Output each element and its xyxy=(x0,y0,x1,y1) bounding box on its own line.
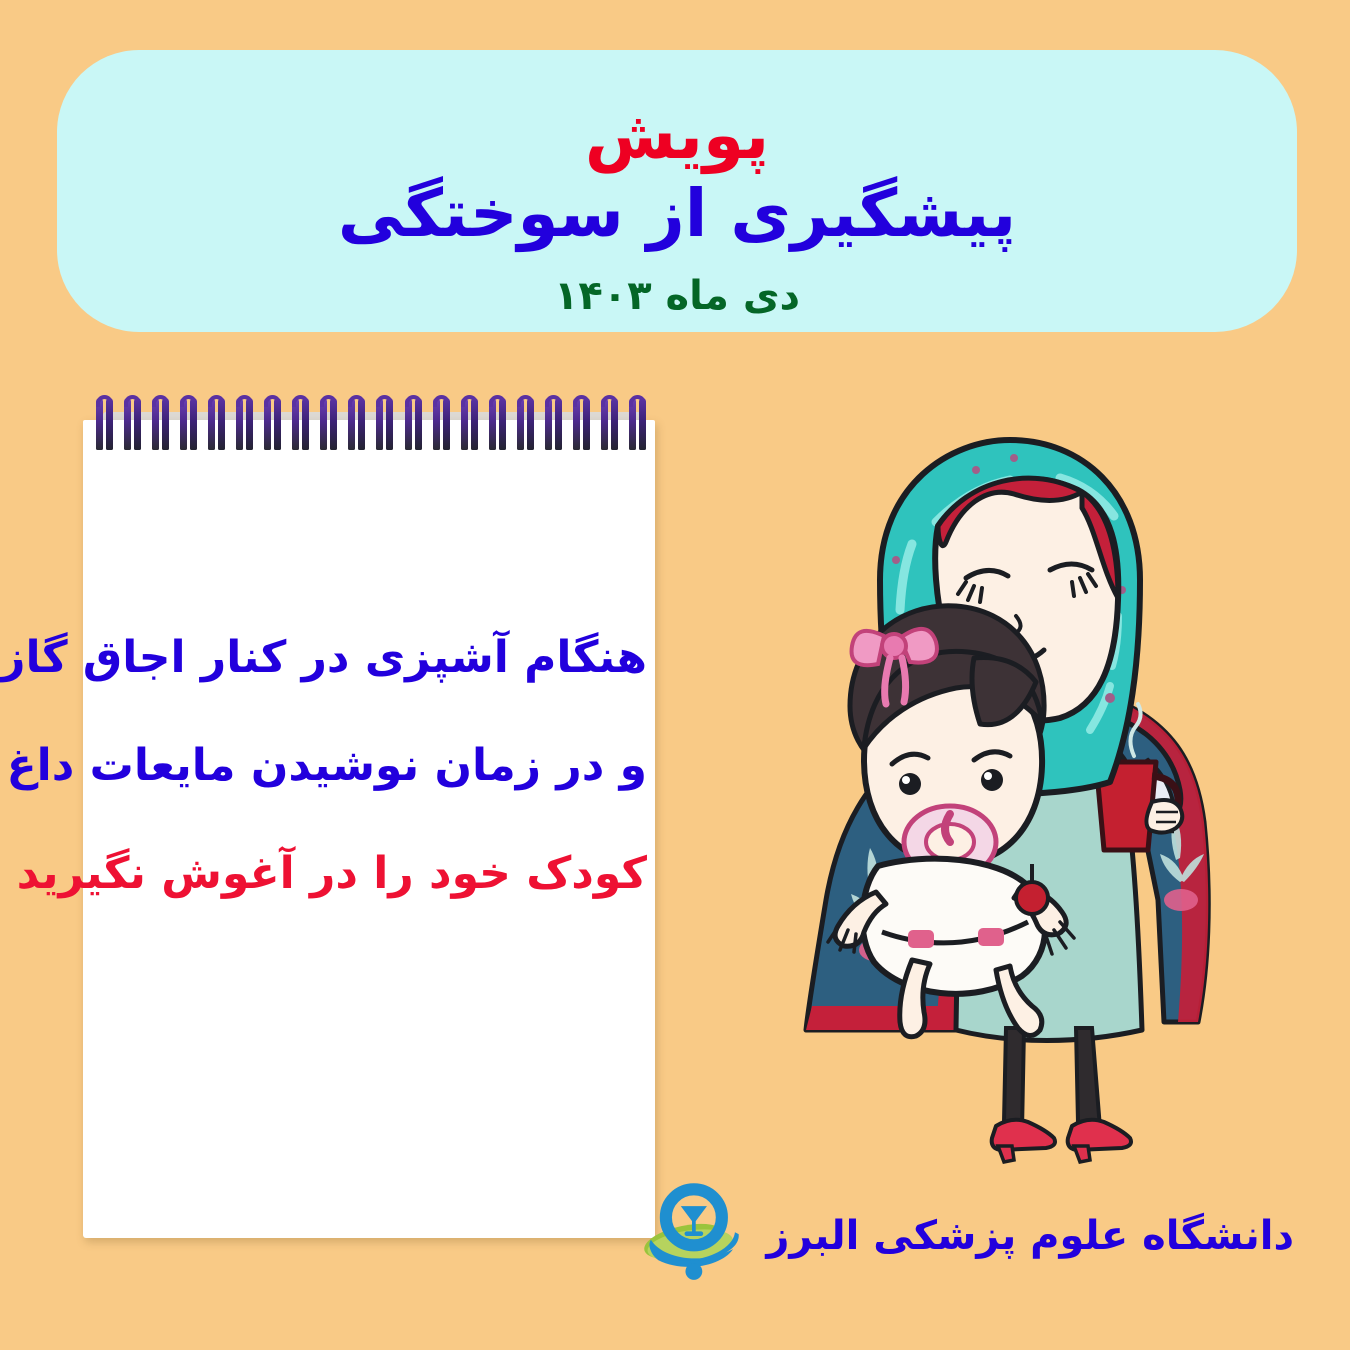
spiral-coil-icon xyxy=(320,398,339,454)
spiral-coil-icon xyxy=(433,398,452,454)
header-panel: پویش پیشگیری از سوختگی دی ماه ۱۴۰۳ xyxy=(57,50,1297,332)
spiral-coil-icon xyxy=(489,398,508,454)
organization-name: دانشگاه علوم پزشکی البرز xyxy=(766,1213,1294,1259)
spiral-coil-icon xyxy=(461,398,480,454)
spiral-coil-icon xyxy=(573,398,592,454)
spiral-coil-icon xyxy=(629,398,648,454)
advice-line-1: هنگام آشپزی در کنار اجاق گاز xyxy=(95,636,647,680)
page-title: پیشگیری از سوختگی xyxy=(57,179,1297,248)
notepad-spiral-binding xyxy=(96,398,648,460)
spiral-coil-icon xyxy=(124,398,143,454)
footer: دانشگاه علوم پزشکی البرز xyxy=(636,1180,1294,1292)
spiral-coil-icon xyxy=(405,398,424,454)
spiral-coil-icon xyxy=(96,398,115,454)
spiral-coil-icon xyxy=(152,398,171,454)
alborz-ums-logo-icon xyxy=(636,1180,748,1292)
spiral-coil-icon xyxy=(236,398,255,454)
advice-text-block: هنگام آشپزی در کنار اجاق گاز و در زمان ن… xyxy=(95,636,647,960)
mother-and-baby-illustration xyxy=(760,430,1230,1190)
advice-line-2: و در زمان نوشیدن مایعات داغ xyxy=(95,744,647,788)
poster-canvas: پویش پیشگیری از سوختگی دی ماه ۱۴۰۳ هنگام… xyxy=(0,0,1350,1350)
spiral-coil-icon xyxy=(376,398,395,454)
spiral-coil-icon xyxy=(292,398,311,454)
spiral-coil-icon xyxy=(545,398,564,454)
advice-line-3: کودک خود را در آغوش نگیرید xyxy=(95,852,647,896)
spiral-coil-icon xyxy=(208,398,227,454)
spiral-coil-icon xyxy=(264,398,283,454)
spiral-coil-icon xyxy=(348,398,367,454)
campaign-label: پویش xyxy=(57,102,1297,169)
spiral-coil-icon xyxy=(180,398,199,454)
spiral-coil-icon xyxy=(517,398,536,454)
spiral-coil-icon xyxy=(601,398,620,454)
date-label: دی ماه ۱۴۰۳ xyxy=(57,275,1297,317)
